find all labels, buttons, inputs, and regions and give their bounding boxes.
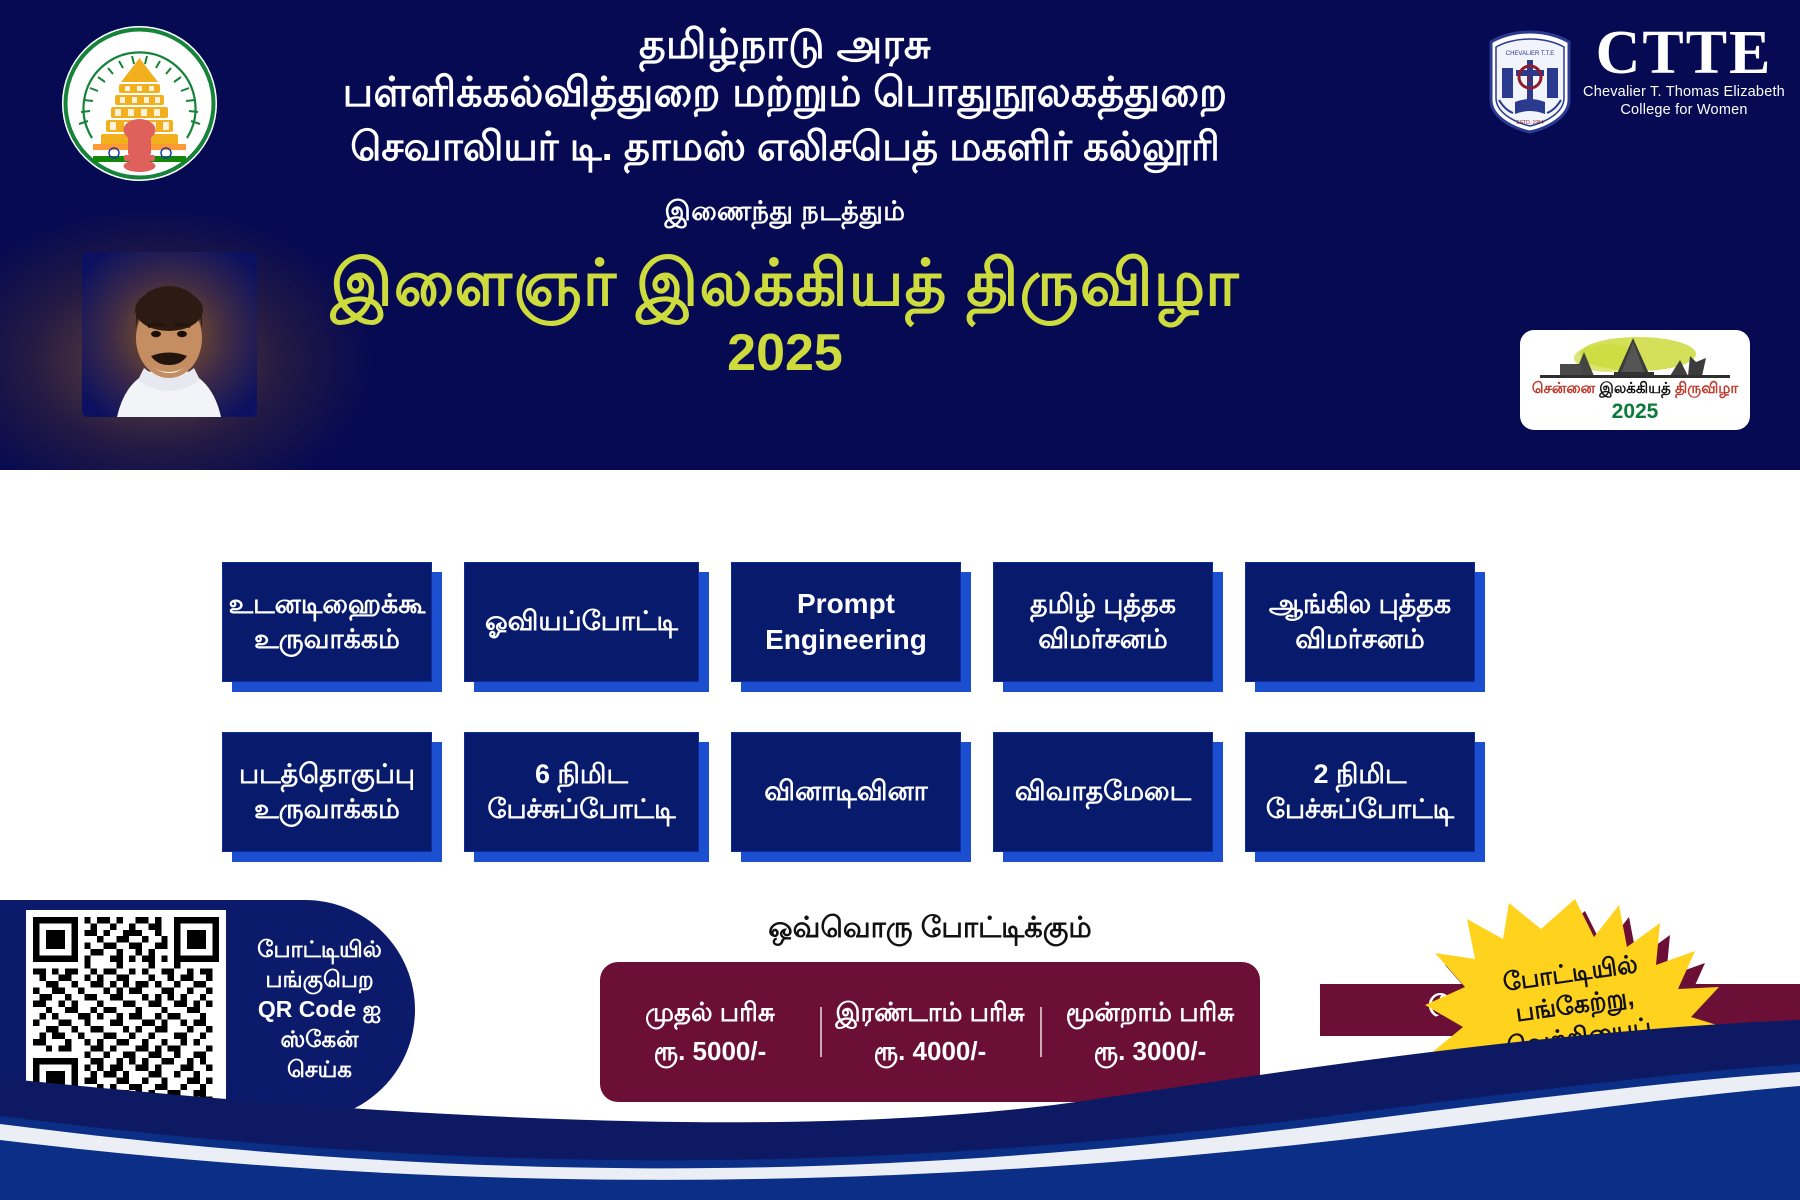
- ctte-wordmark: CTTE Chevalier T. Thomas Elizabeth Colle…: [1579, 24, 1789, 120]
- ribbon-notch-right: [1098, 492, 1140, 544]
- festival-badge-word-2: இலக்கியத்: [1599, 380, 1671, 397]
- ctte-college-logo: CHEVALIER T.T.E C ESTD. 1984 CTTE Cheval…: [1487, 26, 1787, 136]
- poster-root: தமிழ்நாடு அரசு பள்ளிக்கல்வித்துறை மற்றும…: [0, 0, 1800, 1200]
- competition-card-label: 2 நிமிட பேச்சுப்போட்டி: [1245, 732, 1475, 852]
- competition-card-label: வினாடிவினா: [731, 732, 961, 852]
- competition-card[interactable]: 6 நிமிட பேச்சுப்போட்டி: [464, 732, 699, 852]
- competition-card-label: Prompt Engineering: [731, 562, 961, 682]
- qr-instruction-line-2: பங்குபெற: [232, 965, 407, 995]
- ribbon-notch-left: [660, 492, 702, 544]
- chief-minister-portrait: [82, 252, 257, 417]
- competition-card[interactable]: விவாதமேடை: [993, 732, 1213, 852]
- festival-badge-word-3: திருவிழா: [1675, 380, 1738, 397]
- festival-badge-year: 2025: [1520, 400, 1750, 424]
- festival-skyline-artwork-icon: [1520, 332, 1750, 380]
- festival-badge-word-1: சென்னை: [1532, 380, 1595, 397]
- competition-card[interactable]: 2 நிமிட பேச்சுப்போட்டி: [1245, 732, 1475, 852]
- college-name-line: செவாலியர் டி. தாமஸ் எலிசபெத் மகளிர் கல்ல…: [270, 122, 1300, 172]
- ctte-shield-icon: CHEVALIER T.T.E C ESTD. 1984: [1487, 30, 1573, 134]
- competition-card-label: 6 நிமிட பேச்சுப்போட்டி: [464, 732, 699, 852]
- competition-card-label: தமிழ் புத்தக விமர்சனம்: [993, 562, 1213, 682]
- gov-line-1: தமிழ்நாடு அரசு: [270, 22, 1300, 68]
- ctte-subtitle-line-2: College for Women: [1579, 101, 1789, 120]
- tamil-nadu-government-emblem: [62, 26, 217, 181]
- competition-card-label: ஆங்கில புத்தக விமர்சனம்: [1245, 562, 1475, 682]
- svg-text:CHEVALIER T.T.E: CHEVALIER T.T.E: [1506, 51, 1554, 57]
- competition-card[interactable]: உடனடிஹைக்கூ உருவாக்கம்: [222, 562, 432, 682]
- header-title-block: தமிழ்நாடு அரசு பள்ளிக்கல்வித்துறை மற்றும…: [270, 22, 1300, 383]
- competition-card-label: உடனடிஹைக்கூ உருவாக்கம்: [222, 562, 432, 682]
- competition-card-label: படத்தொகுப்பு உருவாக்கம்: [222, 732, 432, 852]
- gov-line-2: பள்ளிக்கல்வித்துறை மற்றும் பொதுநூலகத்துற…: [270, 68, 1300, 116]
- festival-badge-tamil-text: சென்னை இலக்கியத் திருவிழா: [1520, 380, 1750, 399]
- competition-card[interactable]: தமிழ் புத்தக விமர்சனம்: [993, 562, 1213, 682]
- qr-instruction-line-1: போட்டியில்: [232, 935, 407, 965]
- jointly-organised-line: இணைந்து நடத்தும்: [270, 196, 1300, 231]
- competitions-ribbon: போட்டிகள் விவரம்: [660, 492, 1140, 544]
- ctte-acronym: CTTE: [1579, 24, 1789, 83]
- event-year: 2025: [270, 323, 1300, 383]
- competition-card[interactable]: ஆங்கில புத்தக விமர்சனம்: [1245, 562, 1475, 682]
- event-title: இளைஞர் இலக்கியத் திருவிழா: [270, 247, 1300, 321]
- prize-heading: ஒவ்வொரு போட்டிக்கும்: [600, 912, 1260, 948]
- competition-card[interactable]: படத்தொகுப்பு உருவாக்கம்: [222, 732, 432, 852]
- svg-text:ESTD. 1984: ESTD. 1984: [1516, 120, 1543, 126]
- competition-card-label: விவாதமேடை: [993, 732, 1213, 852]
- competition-card[interactable]: வினாடிவினா: [731, 732, 961, 852]
- poster-header: தமிழ்நாடு அரசு பள்ளிக்கல்வித்துறை மற்றும…: [0, 0, 1800, 470]
- competition-card[interactable]: Prompt Engineering: [731, 562, 961, 682]
- bottom-decorative-waves: [0, 1020, 1800, 1200]
- competition-row-1: உடனடிஹைக்கூ உருவாக்கம்ஓவியப்போட்டிPrompt…: [222, 562, 1475, 682]
- chennai-literary-festival-badge: சென்னை இலக்கியத் திருவிழா 2025: [1520, 330, 1750, 430]
- svg-text:C: C: [1526, 74, 1533, 85]
- competition-card[interactable]: ஓவியப்போட்டி: [464, 562, 699, 682]
- competition-card-label: ஓவியப்போட்டி: [464, 562, 699, 682]
- ctte-subtitle-line-1: Chevalier T. Thomas Elizabeth: [1579, 83, 1789, 102]
- competition-row-2: படத்தொகுப்பு உருவாக்கம்6 நிமிட பேச்சுப்ப…: [222, 732, 1475, 852]
